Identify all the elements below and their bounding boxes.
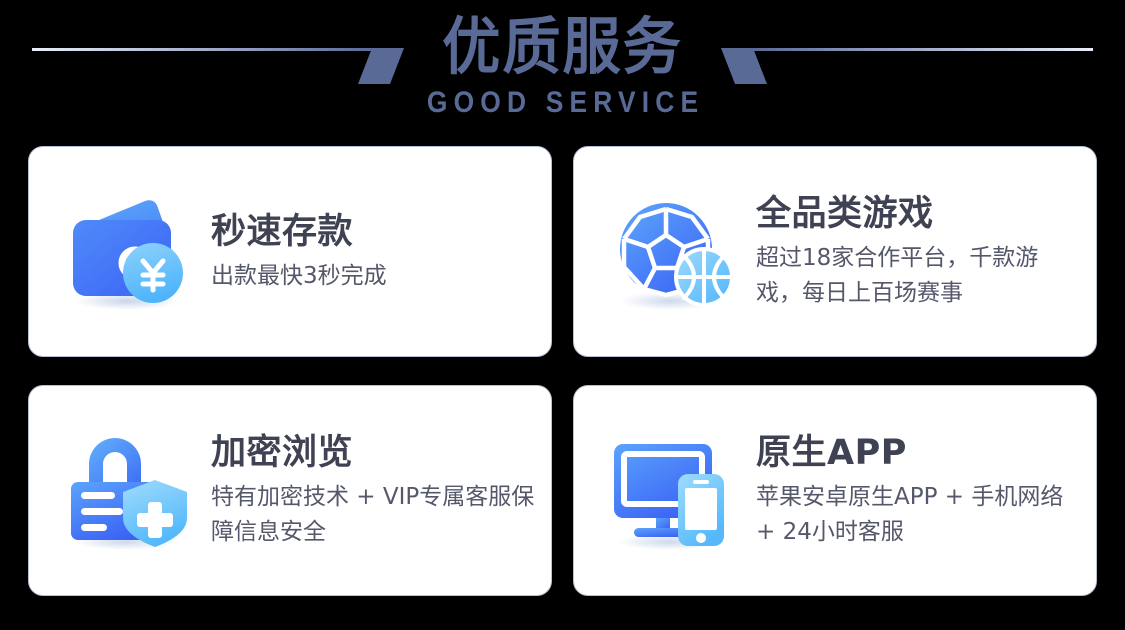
header-title-block: 优质服务 GOOD SERVICE bbox=[0, 8, 1125, 120]
card-text-block: 原生APP 苹果安卓原生APP + 手机网络 + 24小时客服 bbox=[740, 431, 1096, 550]
service-card-encryption[interactable]: 加密浏览 特有加密技术 + VIP专属客服保障信息安全 bbox=[28, 385, 552, 596]
card-title: 加密浏览 bbox=[211, 431, 539, 476]
header: 优质服务 GOOD SERVICE bbox=[0, 0, 1125, 140]
card-text-block: 秒速存款 出款最快3秒完成 bbox=[195, 210, 551, 294]
page-title: 优质服务 bbox=[34, 8, 1092, 86]
card-title: 全品类游戏 bbox=[756, 192, 1084, 237]
good-service-banner: 优质服务 GOOD SERVICE bbox=[0, 0, 1125, 630]
card-text-block: 加密浏览 特有加密技术 + VIP专属客服保障信息安全 bbox=[195, 431, 551, 550]
service-card-deposit[interactable]: 秒速存款 出款最快3秒完成 bbox=[28, 146, 552, 357]
card-subtitle: 特有加密技术 + VIP专属客服保障信息安全 bbox=[211, 480, 539, 550]
card-subtitle: 出款最快3秒完成 bbox=[211, 259, 539, 294]
card-subtitle: 超过18家合作平台，千款游戏，每日上百场赛事 bbox=[756, 241, 1084, 311]
card-title: 秒速存款 bbox=[211, 210, 539, 255]
monitor-phone-icon bbox=[608, 430, 740, 552]
soccer-basketball-icon bbox=[608, 191, 740, 313]
wallet-yen-icon bbox=[63, 191, 195, 313]
service-card-games[interactable]: 全品类游戏 超过18家合作平台，千款游戏，每日上百场赛事 bbox=[573, 146, 1097, 357]
card-title: 原生APP bbox=[756, 431, 1084, 476]
card-text-block: 全品类游戏 超过18家合作平台，千款游戏，每日上百场赛事 bbox=[740, 192, 1096, 311]
card-subtitle: 苹果安卓原生APP + 手机网络 + 24小时客服 bbox=[756, 480, 1084, 550]
service-card-native-app[interactable]: 原生APP 苹果安卓原生APP + 手机网络 + 24小时客服 bbox=[573, 385, 1097, 596]
lock-shield-icon bbox=[63, 430, 195, 552]
service-card-grid: 秒速存款 出款最快3秒完成 bbox=[28, 146, 1097, 596]
page-subtitle: GOOD SERVICE bbox=[68, 86, 1058, 120]
